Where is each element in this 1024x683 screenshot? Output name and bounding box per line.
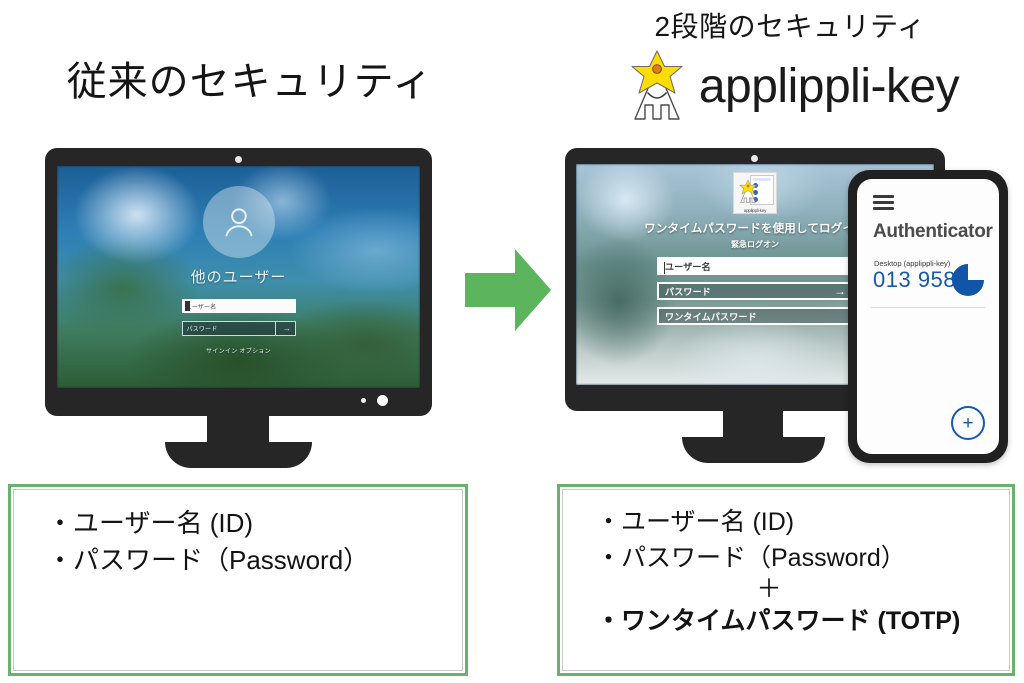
text-caret	[185, 301, 190, 311]
right-username-input[interactable]: ユーザー名	[657, 257, 853, 275]
add-account-plus-icon[interactable]: +	[951, 406, 985, 440]
right-password-input[interactable]: パスワード →	[657, 282, 853, 300]
burger-bar	[873, 201, 894, 204]
left-monitor-foot	[165, 442, 312, 468]
left-credentials-box: ・ユーザー名 (ID) ・パスワード（Password）	[8, 484, 468, 676]
authenticator-title: Authenticator	[873, 221, 991, 243]
burger-bar	[873, 195, 894, 198]
brand-lockup: applippli-key	[575, 46, 1005, 128]
smartphone-device: Authenticator Desktop (applippli-key) 01…	[848, 170, 1008, 463]
green-right-arrow-icon	[463, 247, 553, 333]
list-item: ・ユーザー名 (ID)	[596, 505, 1012, 541]
right-otp-input[interactable]: ワンタイムパスワード	[657, 307, 853, 325]
authenticator-otp-code[interactable]: 013 958	[873, 267, 956, 293]
left-password-placeholder: パスワード	[183, 324, 218, 333]
right-username-placeholder: ユーザー名	[659, 260, 711, 273]
list-item: ・ユーザー名 (ID)	[47, 505, 465, 542]
hamburger-menu-icon[interactable]	[873, 195, 894, 208]
left-monitor-screen: 他のユーザー ユーザー名 パスワード → サインイン オプション	[57, 166, 420, 388]
countdown-pie-icon	[951, 263, 985, 297]
burger-bar	[873, 207, 894, 210]
list-item: ・パスワード（Password）	[596, 541, 1012, 577]
poster-canvas: 従来のセキュリティ 2段階のセキュリティ applippli-key	[0, 0, 1024, 683]
text-caret	[664, 262, 665, 274]
list-item: ・パスワード（Password）	[47, 542, 465, 579]
right-credentials-list: ・ユーザー名 (ID) ・パスワード（Password） ＋ ・ワンタイムパスワ…	[560, 487, 1012, 639]
applippli-app-icon: applippli-key	[733, 172, 777, 214]
left-monitor: 他のユーザー ユーザー名 パスワード → サインイン オプション	[45, 148, 432, 468]
webcam-dot-icon	[751, 155, 758, 162]
right-heading: 2段階のセキュリティ	[575, 10, 1005, 44]
list-divider	[871, 307, 985, 308]
plus-separator: ＋	[596, 576, 1012, 604]
left-password-input[interactable]: パスワード →	[182, 321, 296, 336]
brand-name: applippli-key	[699, 63, 959, 111]
left-credentials-list: ・ユーザー名 (ID) ・パスワード（Password）	[11, 487, 465, 579]
power-led-icon	[377, 395, 388, 406]
right-password-placeholder: パスワード	[659, 285, 711, 298]
signin-options-link[interactable]: サインイン オプション	[57, 346, 420, 355]
mini-mascot-icon	[736, 178, 760, 206]
app-icon-caption: applippli-key	[734, 208, 776, 213]
left-submit-arrow-icon[interactable]: →	[275, 322, 295, 335]
right-otp-placeholder: ワンタイムパスワード	[659, 310, 757, 323]
applippli-key-star-mascot-icon	[621, 49, 693, 125]
user-avatar-icon	[203, 186, 275, 258]
authenticator-app-screen: Authenticator Desktop (applippli-key) 01…	[857, 179, 999, 454]
status-led-icon	[361, 398, 366, 403]
webcam-dot-icon	[235, 156, 242, 163]
left-heading: 従来のセキュリティ	[45, 60, 455, 104]
right-monitor-foot	[682, 437, 825, 463]
left-username-input[interactable]: ユーザー名	[182, 299, 296, 313]
login-user-label: 他のユーザー	[57, 266, 420, 287]
right-credentials-box: ・ユーザー名 (ID) ・パスワード（Password） ＋ ・ワンタイムパスワ…	[557, 484, 1015, 676]
list-item-totp: ・ワンタイムパスワード (TOTP)	[596, 604, 1012, 640]
